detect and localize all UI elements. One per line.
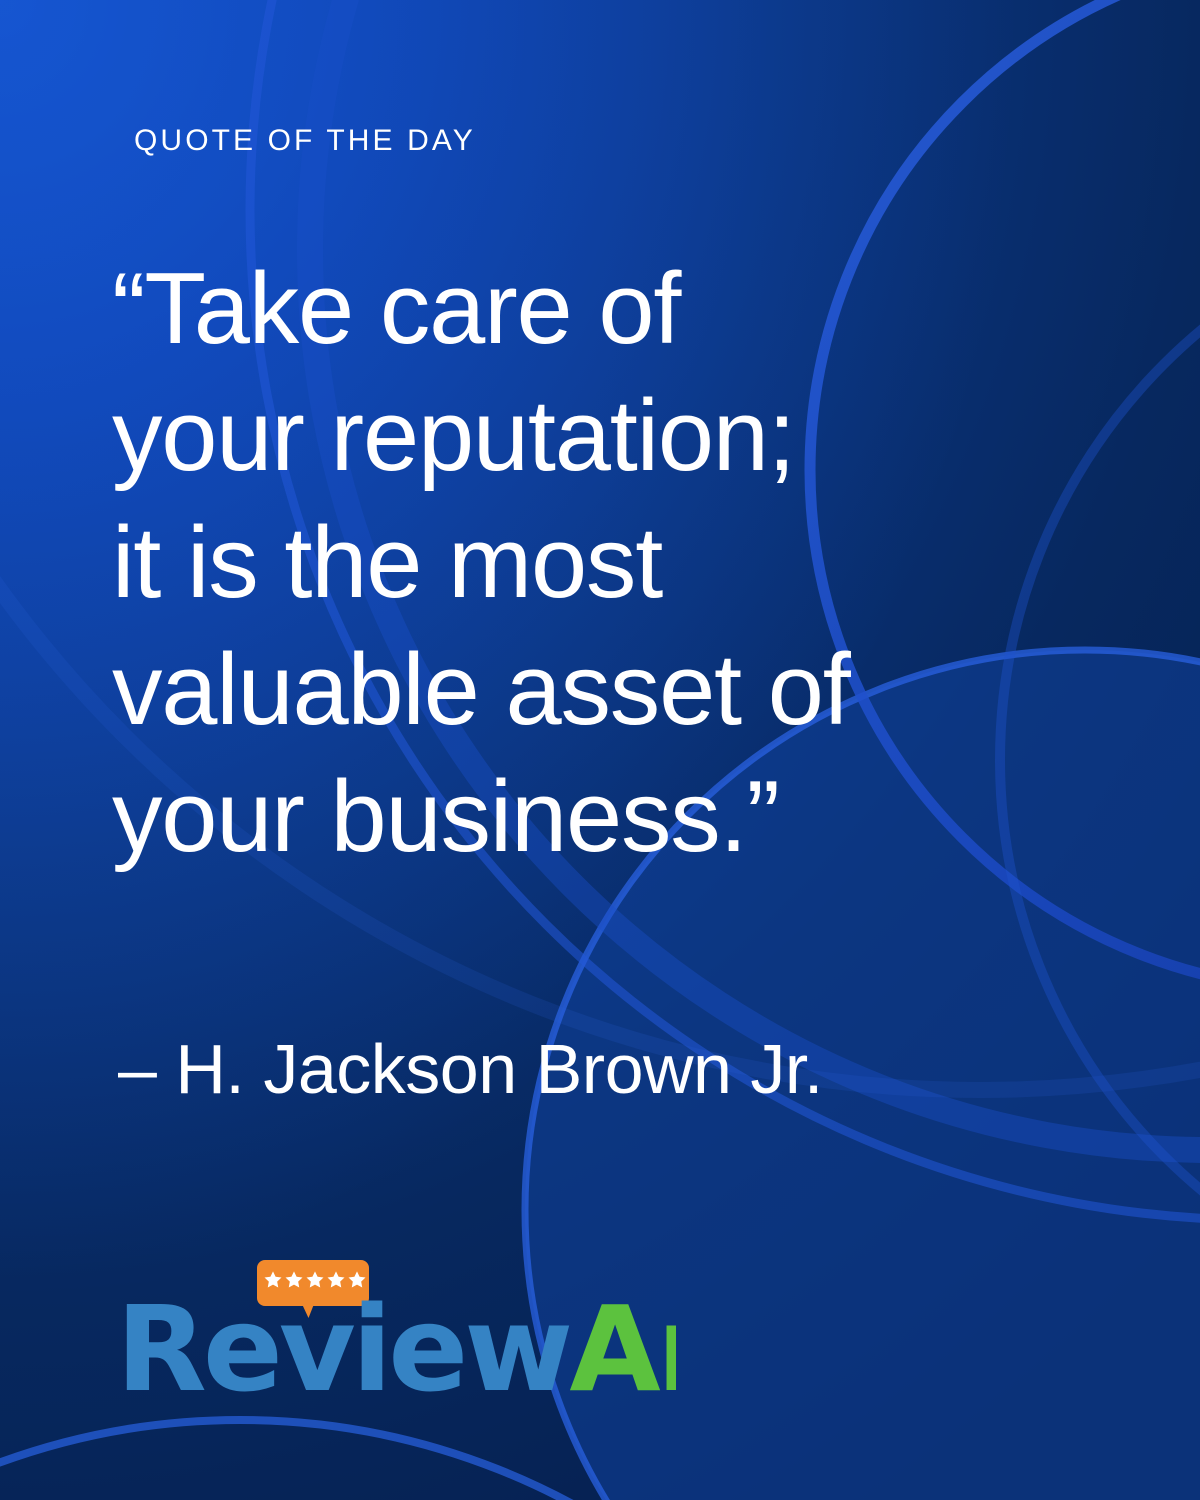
quote-line: valuable asset of	[112, 627, 1092, 754]
quote-card: QUOTE OF THE DAY “Take care of your repu…	[0, 0, 1200, 1500]
quote-line: it is the most	[112, 500, 1092, 627]
logo-word-secondary: Arm	[569, 1280, 676, 1398]
brand-logo[interactable]: ReviewArm	[116, 1258, 676, 1398]
svg-text:ReviewArm: ReviewArm	[116, 1280, 676, 1398]
quote-line: “Take care of	[112, 246, 1092, 373]
logo-word-primary: Review	[116, 1280, 569, 1398]
eyebrow-label: QUOTE OF THE DAY	[134, 126, 476, 156]
quote-attribution: – H. Jackson Brown Jr.	[118, 1024, 823, 1114]
quote-line: your business.”	[112, 754, 1092, 881]
quote-block: “Take care of your reputation; it is the…	[112, 246, 1092, 881]
quote-line: your reputation;	[112, 373, 1092, 500]
decor-arc-bottom-left	[0, 1420, 940, 1500]
